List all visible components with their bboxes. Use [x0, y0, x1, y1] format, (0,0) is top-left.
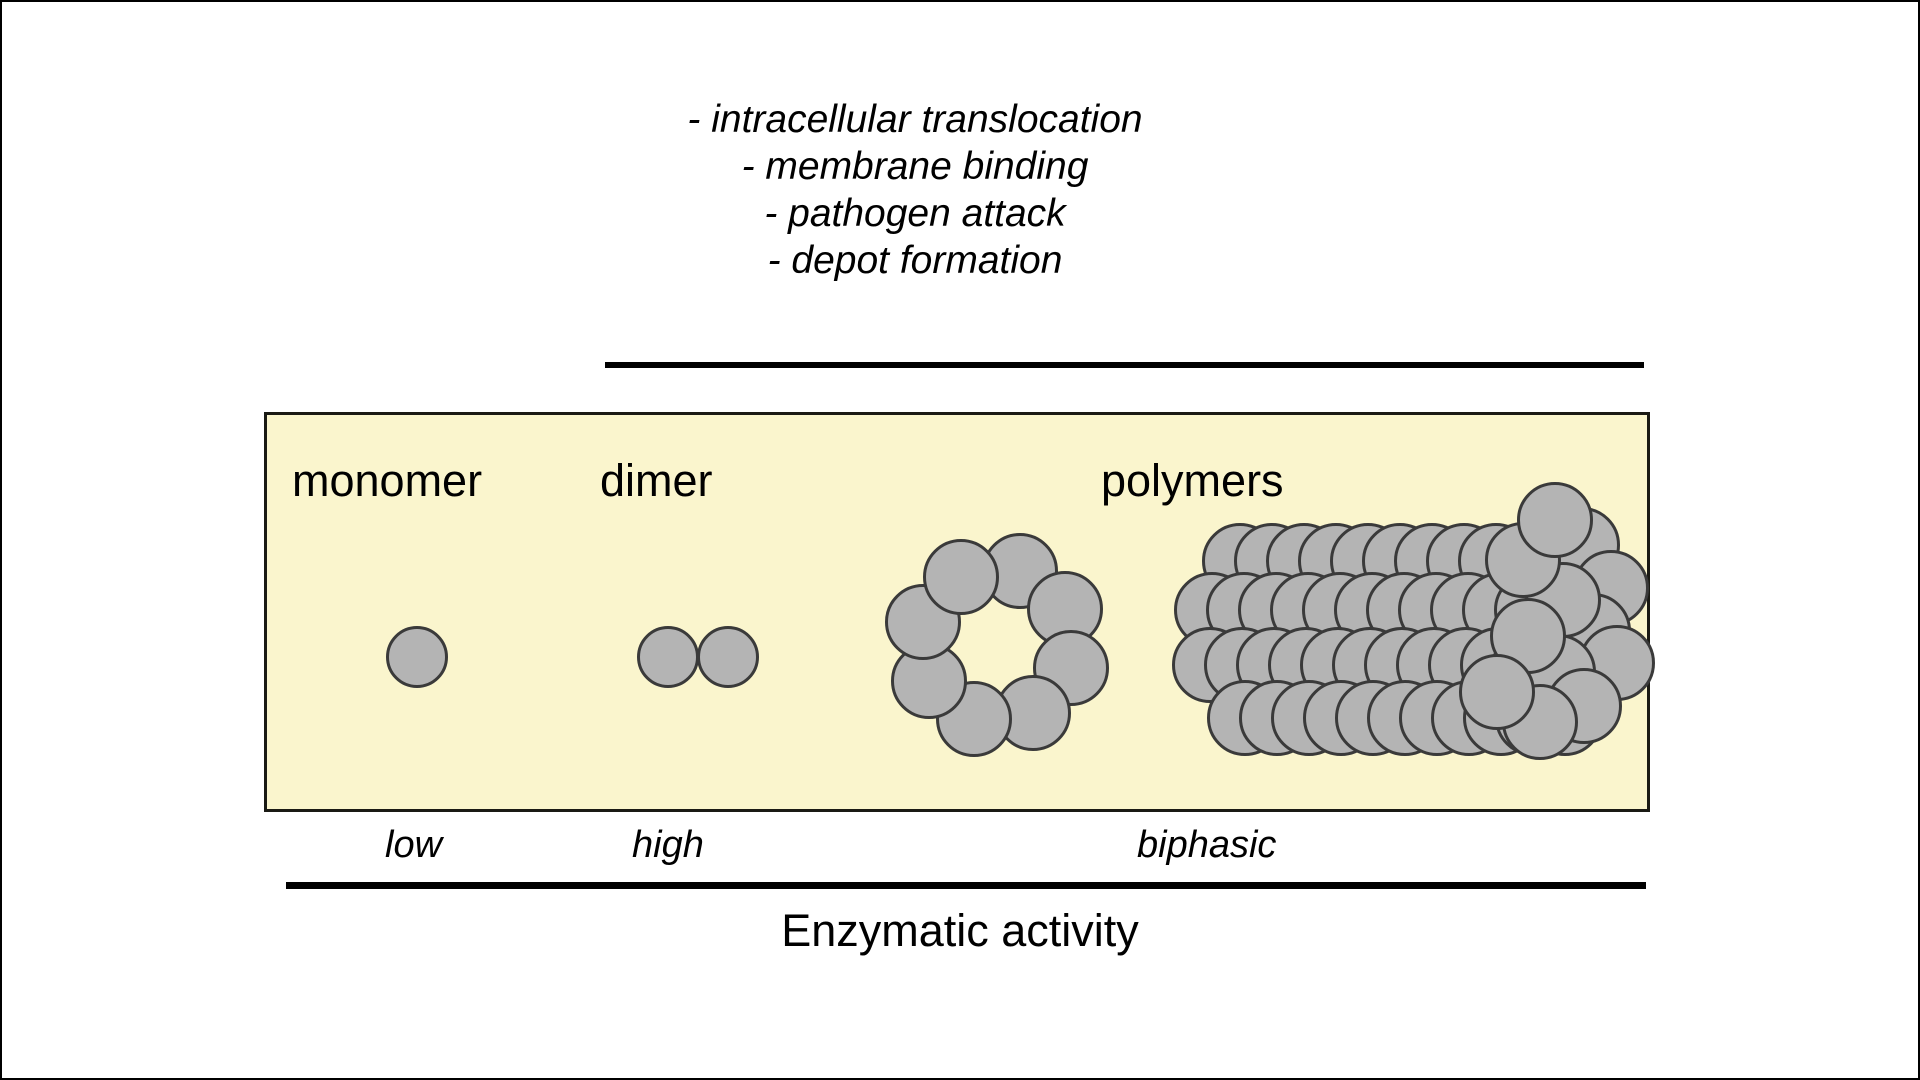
activity-axis-caption: Enzymatic activity	[560, 906, 1360, 956]
subunit-tube-cap-12	[1517, 482, 1593, 558]
activity-label-biphasic: biphasic	[1137, 826, 1276, 864]
activity-label-low: low	[385, 826, 442, 864]
activity-axis-rule	[286, 882, 1646, 889]
activity-label-high: high	[632, 826, 704, 864]
subunit-tube-cap-11	[1459, 654, 1535, 730]
figure-root: - intracellular translocation - membrane…	[0, 0, 1920, 1080]
